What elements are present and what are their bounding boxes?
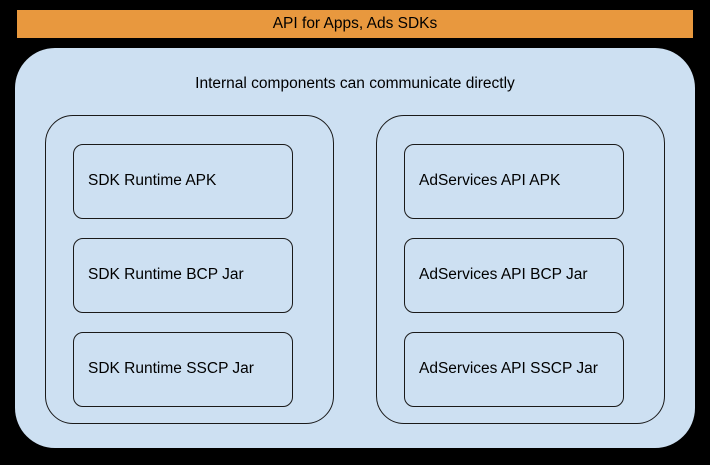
- component-label: AdServices API BCP Jar: [419, 265, 588, 286]
- component-box: SDK Runtime SSCP Jar: [73, 332, 293, 407]
- api-banner-label: API for Apps, Ads SDKs: [273, 16, 438, 32]
- panel-title: Internal components can communicate dire…: [15, 76, 695, 92]
- component-label: SDK Runtime BCP Jar: [88, 265, 244, 286]
- component-box: AdServices API SSCP Jar: [404, 332, 624, 407]
- component-box: SDK Runtime APK: [73, 144, 293, 219]
- internal-components-panel: Internal components can communicate dire…: [15, 48, 695, 448]
- component-label: AdServices API SSCP Jar: [419, 359, 598, 380]
- component-label: AdServices API APK: [419, 171, 560, 192]
- adservices-api-group: AdServices API APK AdServices API BCP Ja…: [376, 115, 665, 424]
- component-label: SDK Runtime APK: [88, 171, 216, 192]
- component-box: AdServices API APK: [404, 144, 624, 219]
- component-box: SDK Runtime BCP Jar: [73, 238, 293, 313]
- component-label: SDK Runtime SSCP Jar: [88, 359, 254, 380]
- sdk-runtime-group: SDK Runtime APK SDK Runtime BCP Jar SDK …: [45, 115, 334, 424]
- diagram-canvas: API for Apps, Ads SDKs Internal componen…: [0, 0, 710, 465]
- component-box: AdServices API BCP Jar: [404, 238, 624, 313]
- api-banner: API for Apps, Ads SDKs: [17, 10, 693, 38]
